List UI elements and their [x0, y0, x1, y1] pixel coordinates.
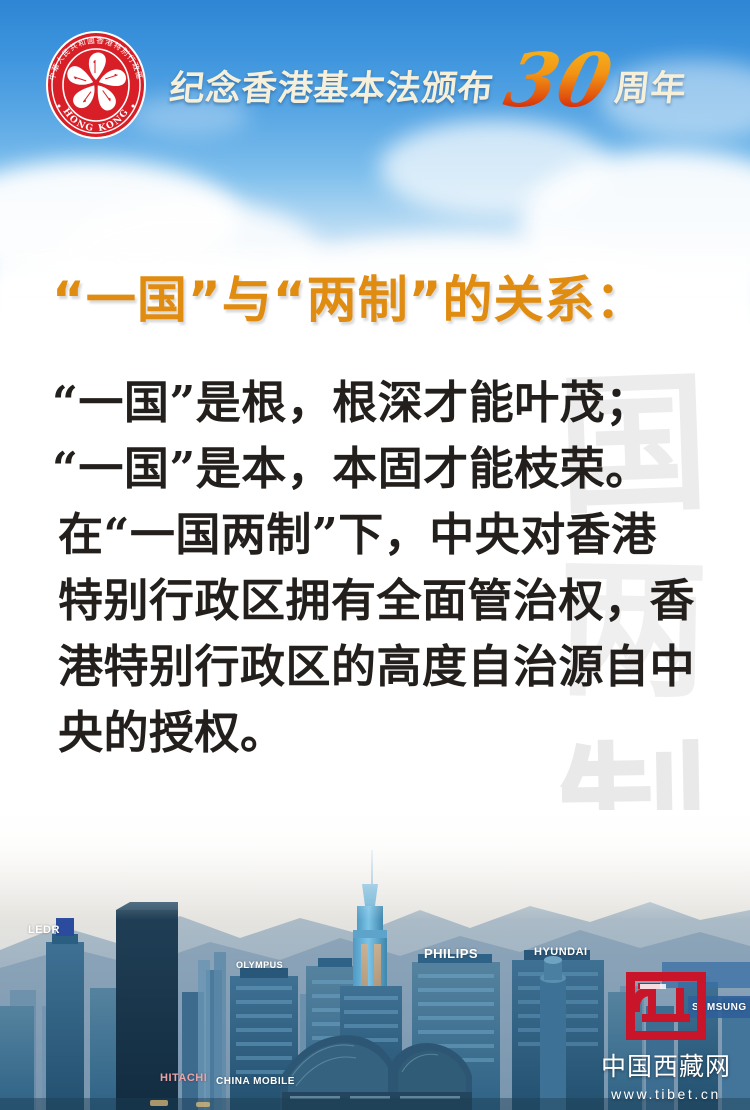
- anniversary-number: 30: [500, 48, 617, 115]
- poster-canvas: 中華人民共和國香港特別行政區 HONG KONG: [0, 0, 750, 1110]
- body-copy: “一国”是根，根深才能叶茂； “一国”是本，本固才能枝荣。 在“一国两制”下，中…: [0, 370, 750, 766]
- building-sign: CHINA MOBILE: [216, 1076, 295, 1087]
- building-sign: PHILIPS: [424, 946, 478, 961]
- body-text-line: 港特别行政区的高度自治源自中: [52, 634, 720, 700]
- header-title-lockup: 纪念香港基本法颁布 30 周年: [170, 52, 687, 119]
- poster-header: 中華人民共和國香港特別行政區 HONG KONG: [0, 0, 750, 170]
- body-text-line: 在“一国两制”下，中央对香港: [52, 502, 720, 568]
- hksar-emblem-icon: 中華人民共和國香港特別行政區 HONG KONG: [38, 24, 154, 146]
- building-sign: LEDR: [28, 924, 60, 936]
- page-title: “一国”与“两制”的关系：: [0, 270, 750, 330]
- body-text-line: 特别行政区拥有全面管治权，香: [52, 568, 720, 634]
- header-title-primary: 纪念香港基本法颁布: [167, 60, 496, 111]
- body-text-line: “一国”是本，本固才能枝荣。: [52, 436, 720, 502]
- site-url: www.tibet.cn: [611, 1086, 721, 1102]
- building-sign: OLYMPUS: [236, 960, 283, 970]
- body-text-line: “一国”是根，根深才能叶茂；: [52, 370, 720, 436]
- building-sign: HITACHI: [160, 1072, 207, 1084]
- building-sign: HYUNDAI: [534, 946, 588, 958]
- site-name: 中国西藏网: [601, 1047, 731, 1083]
- body-text-line: 央的授权。: [52, 700, 720, 766]
- poster-content: “一国”与“两制”的关系： “一国”是根，根深才能叶茂； “一国”是本，本固才能…: [0, 270, 750, 766]
- site-logo[interactable]: 中国西藏网 www.tibet.cn: [592, 970, 740, 1102]
- xizang-seal-icon: [620, 970, 712, 1042]
- header-title-suffix: 周年: [612, 60, 689, 111]
